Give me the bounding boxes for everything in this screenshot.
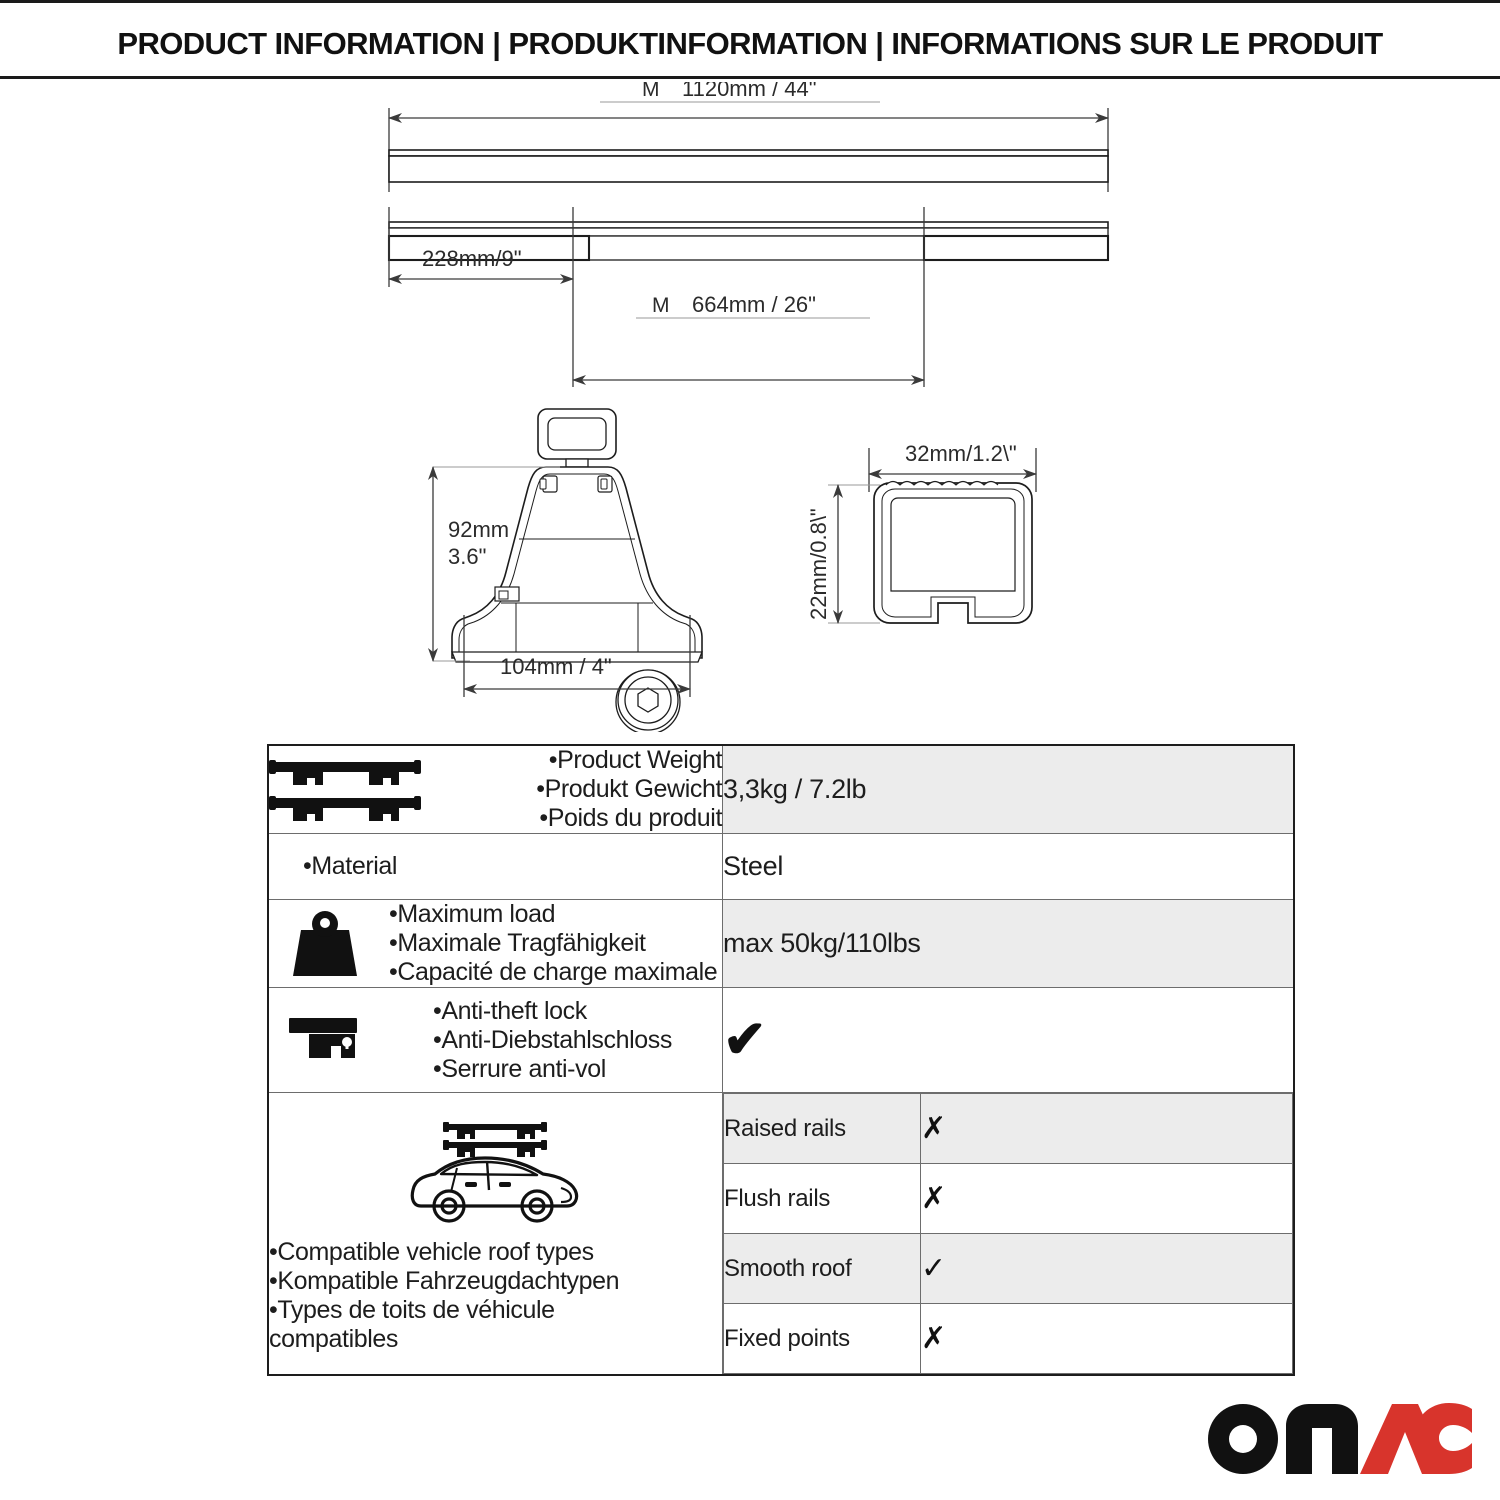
lock-icon: [285, 1012, 369, 1068]
bar-spread-prefix: M: [652, 294, 670, 317]
profile-width-value: 32mm/1.2\": [905, 441, 1017, 466]
label-line: •Kompatible Fahrzeugdachtypen: [269, 1267, 619, 1296]
roof-bars-icon: [269, 754, 421, 826]
roof-option-mark: ✗: [921, 1164, 1293, 1234]
roof-option-name: Raised rails: [724, 1094, 921, 1164]
bar-length-prefix: M: [642, 82, 660, 101]
foot-width-value: 104mm / 4": [500, 654, 612, 679]
cross-icon: ✗: [921, 1322, 946, 1355]
table-row: •Material Steel: [268, 834, 1294, 900]
roof-option-mark: ✓: [921, 1234, 1293, 1304]
profile-height-value: 22mm/0.8\": [806, 508, 831, 620]
anti-theft-value: ✔: [723, 988, 1295, 1093]
technical-drawing: M 1120mm / 44" 228mm/9" M 664mm / 26": [0, 82, 1500, 732]
bar-length-value: 1120mm / 44": [682, 82, 817, 101]
label-line: •Produkt Gewicht: [431, 775, 722, 804]
logo-letter-o: [1208, 1404, 1278, 1474]
roof-option-name: Flush rails: [724, 1164, 921, 1234]
label-line: •Material: [303, 852, 722, 881]
row-label-cell: •Material: [268, 834, 723, 900]
row-labels: •Material: [269, 852, 722, 881]
label-line: •Anti-Diebstahlschloss: [433, 1026, 722, 1055]
roof-options-cell: Raised rails ✗ Flush rails ✗ Smooth roof: [723, 1093, 1295, 1376]
row-labels: •Maximum load •Maximale Tragfähigkeit •C…: [373, 900, 722, 987]
material-value: Steel: [723, 834, 1295, 900]
roof-types-label-cell: •Compatible vehicle roof types •Kompatib…: [268, 1093, 723, 1376]
bar-spread-value: 664mm / 26": [692, 292, 816, 317]
cross-icon: ✗: [921, 1112, 946, 1145]
check-icon: ✓: [921, 1252, 946, 1285]
check-icon: ✔: [723, 1011, 766, 1069]
roof-option-row: Smooth roof ✓: [724, 1234, 1293, 1304]
table-row: •Anti-theft lock •Anti-Diebstahlschloss …: [268, 988, 1294, 1093]
header-bottom-rule: [0, 76, 1500, 79]
table-row: •Product Weight •Produkt Gewicht •Poids …: [268, 745, 1294, 834]
label-line: compatibles: [269, 1325, 619, 1354]
cross-icon: ✗: [921, 1182, 946, 1215]
header-top-rule: [0, 0, 1500, 3]
foot-height-line2: 3.6": [448, 544, 486, 569]
roof-option-row: Fixed points ✗: [724, 1304, 1293, 1374]
foot-offset-value: 228mm/9": [422, 246, 522, 271]
roof-options-table: Raised rails ✗ Flush rails ✗ Smooth roof: [723, 1093, 1293, 1374]
label-line: •Compatible vehicle roof types: [269, 1238, 619, 1267]
label-line: •Maximale Tragfähigkeit: [389, 929, 722, 958]
row-labels: •Product Weight •Produkt Gewicht •Poids …: [431, 746, 722, 833]
roof-option-name: Smooth roof: [724, 1234, 921, 1304]
product-weight-value: 3,3kg / 7.2lb: [723, 745, 1295, 834]
table-row: •Maximum load •Maximale Tragfähigkeit •C…: [268, 900, 1294, 988]
omac-logo: [1204, 1398, 1472, 1476]
foot-height-line1: 92mm: [448, 517, 509, 542]
row-label-cell: •Maximum load •Maximale Tragfähigkeit •C…: [268, 900, 723, 988]
roof-option-row: Raised rails ✗: [724, 1094, 1293, 1164]
page-title: PRODUCT INFORMATION | PRODUKTINFORMATION…: [0, 26, 1500, 62]
label-line: •Capacité de charge maximale: [389, 958, 722, 987]
label-line: •Maximum load: [389, 900, 722, 929]
row-labels: •Anti-theft lock •Anti-Diebstahlschloss …: [379, 997, 722, 1084]
weight-icon: [287, 908, 363, 980]
roof-option-mark: ✗: [921, 1304, 1293, 1374]
label-line: •Product Weight: [431, 746, 722, 775]
roof-option-row: Flush rails ✗: [724, 1164, 1293, 1234]
max-load-value: max 50kg/110lbs: [723, 900, 1295, 988]
label-line: •Anti-theft lock: [433, 997, 722, 1026]
row-label-cell: •Anti-theft lock •Anti-Diebstahlschloss …: [268, 988, 723, 1093]
specifications-table: •Product Weight •Produkt Gewicht •Poids …: [267, 744, 1295, 1376]
label-line: •Types de toits de véhicule: [269, 1296, 619, 1325]
logo-letter-m: [1286, 1404, 1358, 1474]
table-row: •Compatible vehicle roof types •Kompatib…: [268, 1093, 1294, 1376]
car-with-rack-icon: [401, 1114, 591, 1230]
label-line: •Poids du produit: [431, 804, 722, 833]
label-line: •Serrure anti-vol: [433, 1055, 722, 1084]
roof-option-mark: ✗: [921, 1094, 1293, 1164]
roof-option-name: Fixed points: [724, 1304, 921, 1374]
row-label-cell: •Product Weight •Produkt Gewicht •Poids …: [268, 745, 723, 834]
roof-types-labels: •Compatible vehicle roof types •Kompatib…: [269, 1238, 619, 1354]
